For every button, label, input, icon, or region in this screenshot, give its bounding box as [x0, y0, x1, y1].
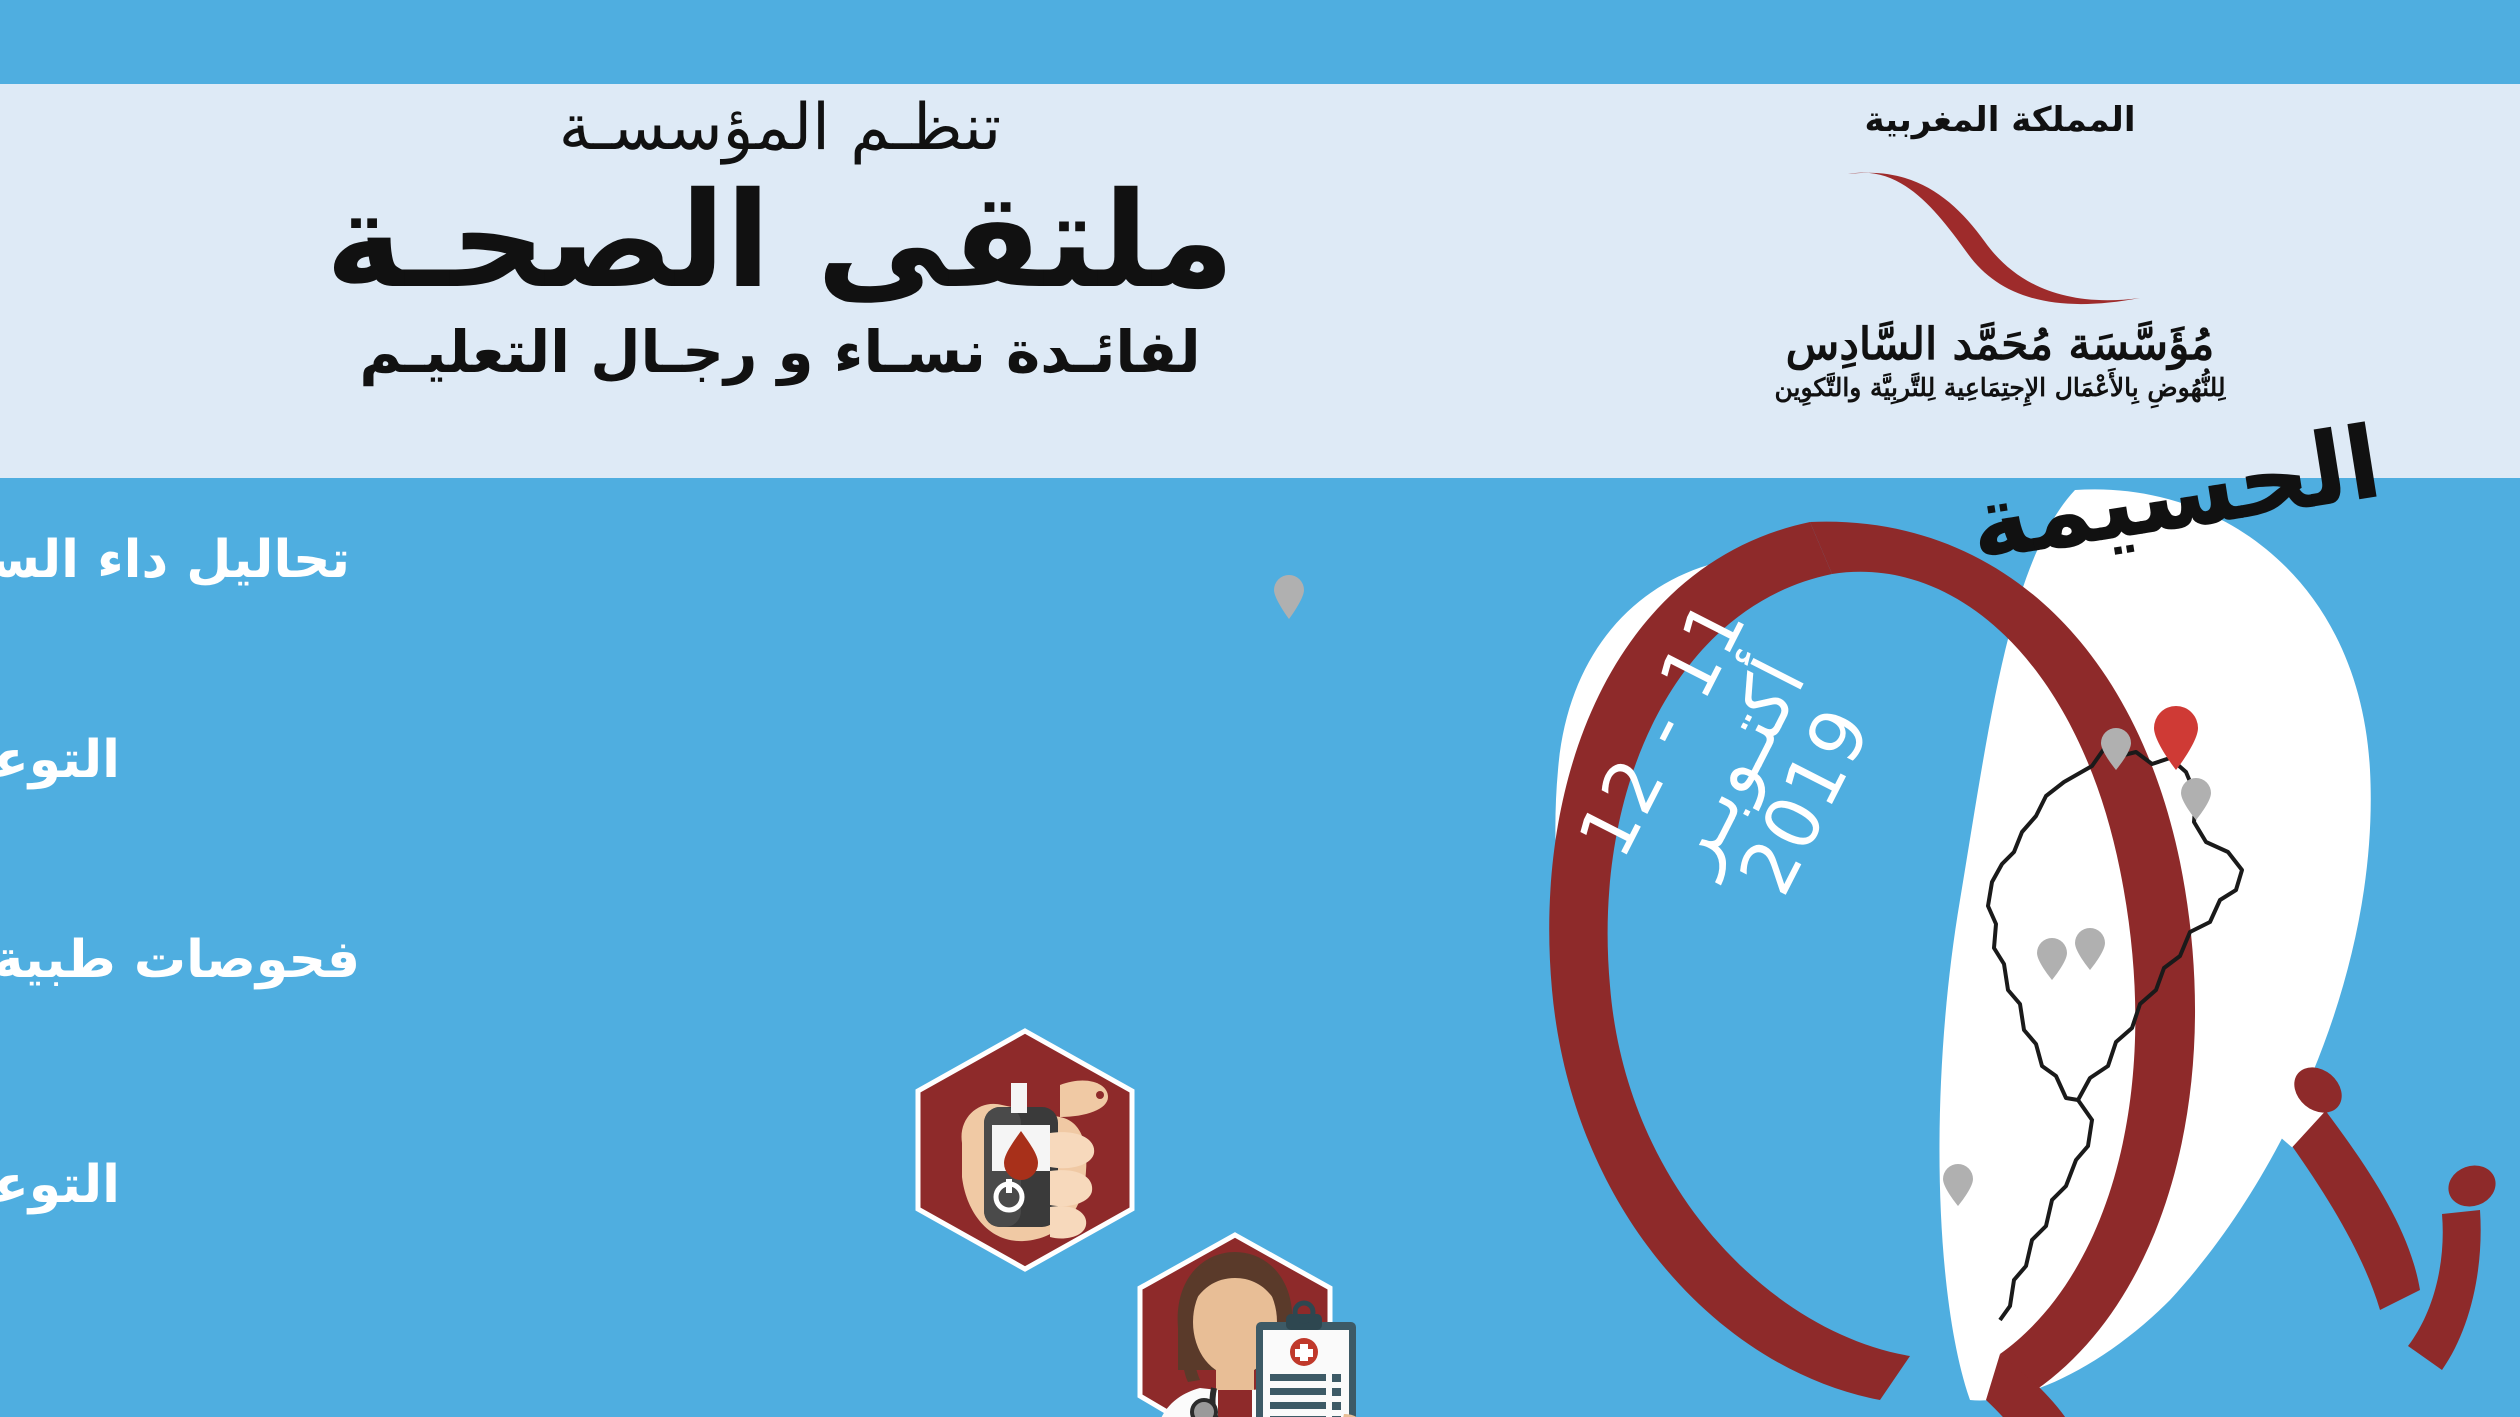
- foundation-logo: المملكة المغربية مُؤَسَّسَة مُحَمَّد الس…: [1700, 100, 2300, 480]
- event-graphic: 11 - 12 أكتـوبـر 2019 الحسيمة: [1480, 470, 2520, 1417]
- service-item: فحوصات طبية في عدة تخصصات: [0, 930, 360, 990]
- organizer-line: تنظـم المؤسسـة: [130, 92, 1430, 166]
- poster-canvas: تنظـم المؤسسـة ملتقى الصحـة لفائـدة نسـا…: [0, 0, 2520, 1417]
- page-title: ملتقى الصحـة: [130, 170, 1430, 313]
- page-subtitle: لفائـدة نسـاء و رجـال التعليـم: [130, 318, 1430, 388]
- service-label: تحاليل داء السكري: [0, 530, 350, 590]
- foundation-tagline: لِلنُّهُوضِ بِالأَعْمَال الإِجتِمَاعِية …: [1700, 374, 2300, 402]
- header-text-block: تنظـم المؤسسـة ملتقى الصحـة لفائـدة نسـا…: [130, 92, 1430, 388]
- service-label: التوعية للوقاية من مرض السرطان: [0, 1155, 120, 1215]
- service-item: التوعية للوقاية من داء السكري: [0, 730, 120, 790]
- glucometer-hand-icon: [910, 1025, 1140, 1279]
- service-item: تحاليل داء السكري: [0, 530, 350, 590]
- foundation-name: مُؤَسَّسَة مُحَمَّد السَّادِس: [1700, 322, 2300, 368]
- map-pin-icon: [1272, 575, 1306, 623]
- service-label: التوعية للوقاية من داء السكري: [0, 730, 120, 790]
- kingdom-label: المملكة المغربية: [1700, 100, 2300, 140]
- services-list: تحاليل داء السكري: [0, 500, 1450, 1330]
- service-label: فحوصات طبية في عدة تخصصات: [0, 930, 360, 990]
- female-doctor-clipboard-icon: [1130, 1230, 1375, 1417]
- service-item: التوعية للوقاية من مرض السرطان: [0, 1155, 120, 1215]
- top-blue-band: [0, 0, 2520, 84]
- swoosh-curve-icon: [1840, 156, 2160, 316]
